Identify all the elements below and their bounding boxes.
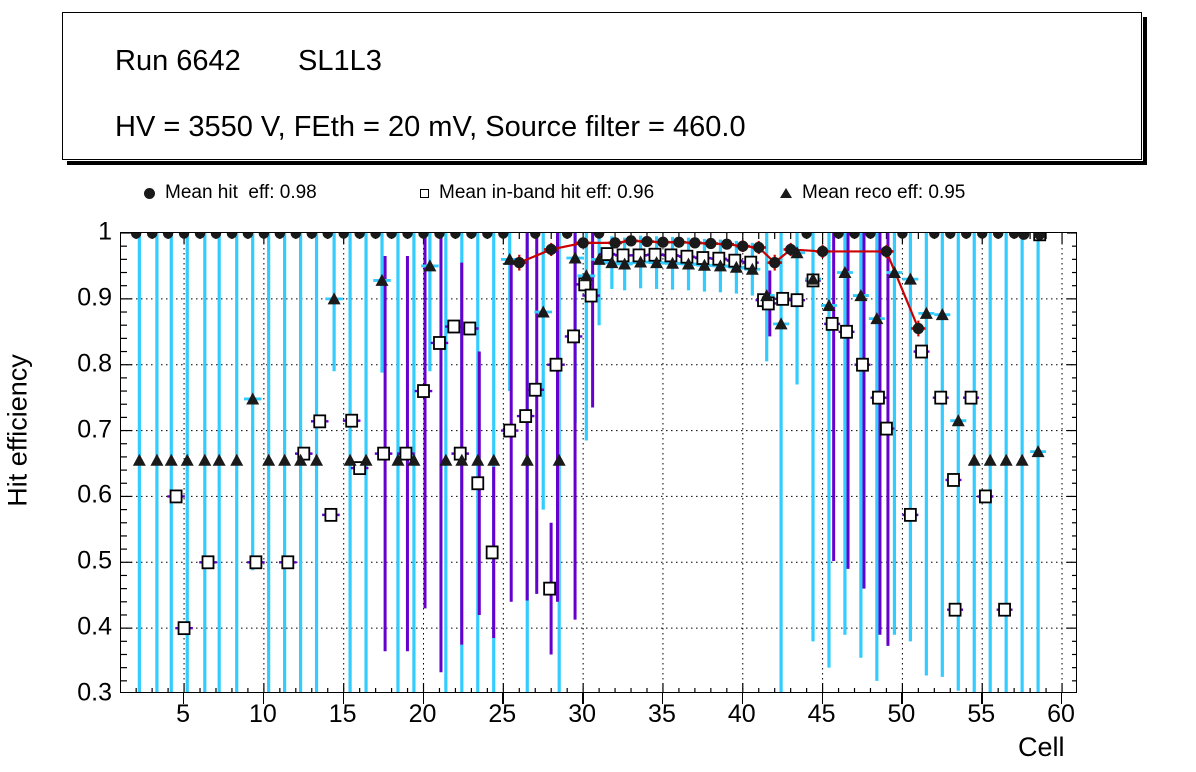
y-tick-label: 1 [98,218,112,247]
marker-filled-circle [753,242,764,253]
marker-filled-triangle [278,454,291,466]
marker-filled-triangle [181,454,194,466]
marker-open-square [950,604,961,616]
marker-filled-circle [402,233,412,239]
plot-frame [120,232,1077,693]
marker-filled-circle [482,233,492,239]
legend-entry-reco-eff: Mean reco eff: 0.95 [780,178,965,208]
marker-open-square [665,249,676,261]
marker-filled-circle [323,233,333,239]
plot-area [121,233,1076,692]
marker-filled-circle [609,237,620,248]
marker-filled-circle [849,233,859,239]
marker-filled-circle [514,257,525,268]
marker-filled-circle [961,233,971,239]
marker-filled-circle [641,236,652,247]
x-axis-tick-labels: 51015202530354045505560 [0,700,1196,734]
x-tick-label: 25 [488,700,516,729]
marker-filled-circle [434,233,444,239]
marker-open-square [568,330,579,342]
marker-filled-circle [418,233,428,239]
marker-filled-circle [1018,233,1029,240]
y-tick-label: 0.8 [77,349,112,378]
marker-filled-circle [1009,233,1019,239]
x-tick-label: 55 [967,700,995,729]
legend-label-inband-hit-eff: Mean in-band hit eff: 0.96 [439,182,654,204]
y-tick-label: 0.9 [77,283,112,312]
marker-filled-circle [769,257,780,268]
marker-filled-circle [450,233,460,239]
filled-triangle-icon [780,188,792,198]
marker-open-square [551,359,562,371]
title-config: HV = 3550 V, FEth = 20 mV, Source filter… [115,111,746,144]
marker-open-square [881,423,892,435]
marker-filled-triangle [1000,454,1013,466]
marker-filled-circle [865,233,875,239]
marker-filled-circle [785,244,796,255]
marker-filled-triangle [310,454,323,466]
x-tick-label: 30 [568,700,596,729]
x-tick-label: 20 [409,700,437,729]
x-tick-label: 45 [808,700,836,729]
y-tick-label: 0.7 [77,415,112,444]
marker-filled-circle [817,246,828,257]
marker-filled-triangle [1016,454,1029,466]
marker-filled-triangle [262,454,275,466]
marker-filled-triangle [150,454,163,466]
marker-open-square [378,448,389,460]
marker-filled-circle [338,233,348,239]
marker-open-square [792,294,803,306]
marker-open-square [873,392,884,404]
inband-errorbars-horizontal [167,254,1012,628]
x-tick-label: 40 [728,700,756,729]
y-tick-label: 0.6 [77,481,112,510]
y-axis-tick-labels: 0.30.40.50.60.70.80.91 [40,232,112,693]
plot-canvas: Run 6642 SL1L3 HV = 3550 V, FEth = 20 mV… [0,0,1196,772]
legend-entry-hit-eff: Mean hit eff: 0.98 [144,178,317,208]
marker-open-square [618,249,629,261]
marker-filled-circle [929,233,939,239]
marker-open-square [346,415,357,427]
marker-filled-circle [657,237,668,248]
marker-open-square [966,392,977,404]
marker-filled-circle [578,237,589,248]
marker-open-square [544,583,555,595]
marker-open-square [171,490,182,502]
marker-filled-triangle [968,454,981,466]
marker-open-square [464,322,475,334]
marker-open-square [203,556,214,568]
x-tick-label: 10 [249,700,277,729]
marker-open-square [314,415,325,427]
marker-filled-circle [897,233,907,239]
marker-filled-triangle [165,454,178,466]
marker-open-square [400,448,411,460]
x-tick-label: 35 [648,700,676,729]
title-box: Run 6642 SL1L3 HV = 3550 V, FEth = 20 mV… [62,12,1142,160]
marker-open-square [418,385,429,397]
marker-filled-triangle [198,454,211,466]
marker-open-square [325,509,336,521]
marker-open-square [980,490,991,502]
marker-open-square [649,249,660,261]
marker-open-square [434,337,445,349]
marker-open-square [487,546,498,558]
marker-filled-circle [625,235,636,246]
marker-open-square [827,318,838,330]
legend-label-hit-eff: Mean hit eff: 0.98 [165,182,317,204]
marker-filled-circle [801,233,811,239]
marker-filled-triangle [553,454,566,466]
y-tick-label: 0.4 [77,613,112,642]
marker-filled-circle [721,239,732,250]
marker-filled-circle [673,237,684,248]
x-axis-title: Cell [1018,732,1065,763]
marker-filled-circle [977,233,987,239]
marker-filled-circle [370,233,380,239]
legend: Mean hit eff: 0.98 Mean in-band hit eff:… [130,178,1075,208]
marker-open-square [586,290,597,302]
marker-filled-triangle [360,454,373,466]
title-run: Run 6642 [115,45,241,78]
x-tick-label: 5 [176,700,190,729]
data-svg [121,233,1076,692]
marker-filled-circle [530,233,540,239]
x-tick-label: 50 [887,700,915,729]
marker-filled-circle [993,233,1003,239]
y-axis-title: Hit efficiency [3,191,34,671]
title-superlayer: SL1L3 [298,45,382,78]
marker-filled-circle [546,244,557,255]
marker-filled-circle [945,233,955,239]
marker-open-square [504,425,515,437]
marker-filled-triangle [521,454,534,466]
y-tick-label: 0.5 [77,547,112,576]
marker-open-square [999,604,1010,616]
marker-filled-circle [737,241,748,252]
marker-open-square [520,410,531,422]
marker-filled-triangle [133,454,146,466]
marker-filled-triangle [344,454,357,466]
marker-open-square [179,622,190,634]
marker-filled-circle [466,233,476,239]
marker-filled-triangle [487,454,500,466]
marker-open-square [948,474,959,486]
marker-filled-circle [881,246,892,257]
marker-open-square [530,384,541,396]
marker-open-square [935,392,946,404]
marker-filled-circle [705,238,716,249]
marker-open-square [841,326,852,338]
x-tick-label: 60 [1047,700,1075,729]
marker-open-square [250,556,261,568]
marker-filled-circle [354,233,364,239]
marker-filled-triangle [984,454,997,466]
marker-filled-circle [913,323,924,334]
marker-filled-circle [386,233,396,239]
x-tick-label: 15 [329,700,357,729]
open-square-icon [420,189,429,198]
marker-filled-triangle [230,454,243,466]
marker-open-square [777,293,788,305]
marker-filled-triangle [471,454,484,466]
marker-filled-circle [689,237,700,248]
legend-entry-inband-hit-eff: Mean in-band hit eff: 0.96 [420,178,654,208]
marker-open-square [916,346,927,358]
legend-label-reco-eff: Mean reco eff: 0.95 [802,182,965,204]
marker-open-square [472,477,483,489]
filled-circle-icon [144,188,155,199]
marker-filled-circle [562,233,572,239]
marker-open-square [282,556,293,568]
marker-open-square [448,321,459,333]
marker-filled-circle [594,233,604,239]
marker-open-square [857,359,868,371]
marker-filled-triangle [213,454,226,466]
marker-open-square [905,509,916,521]
marker-filled-circle [498,233,508,239]
